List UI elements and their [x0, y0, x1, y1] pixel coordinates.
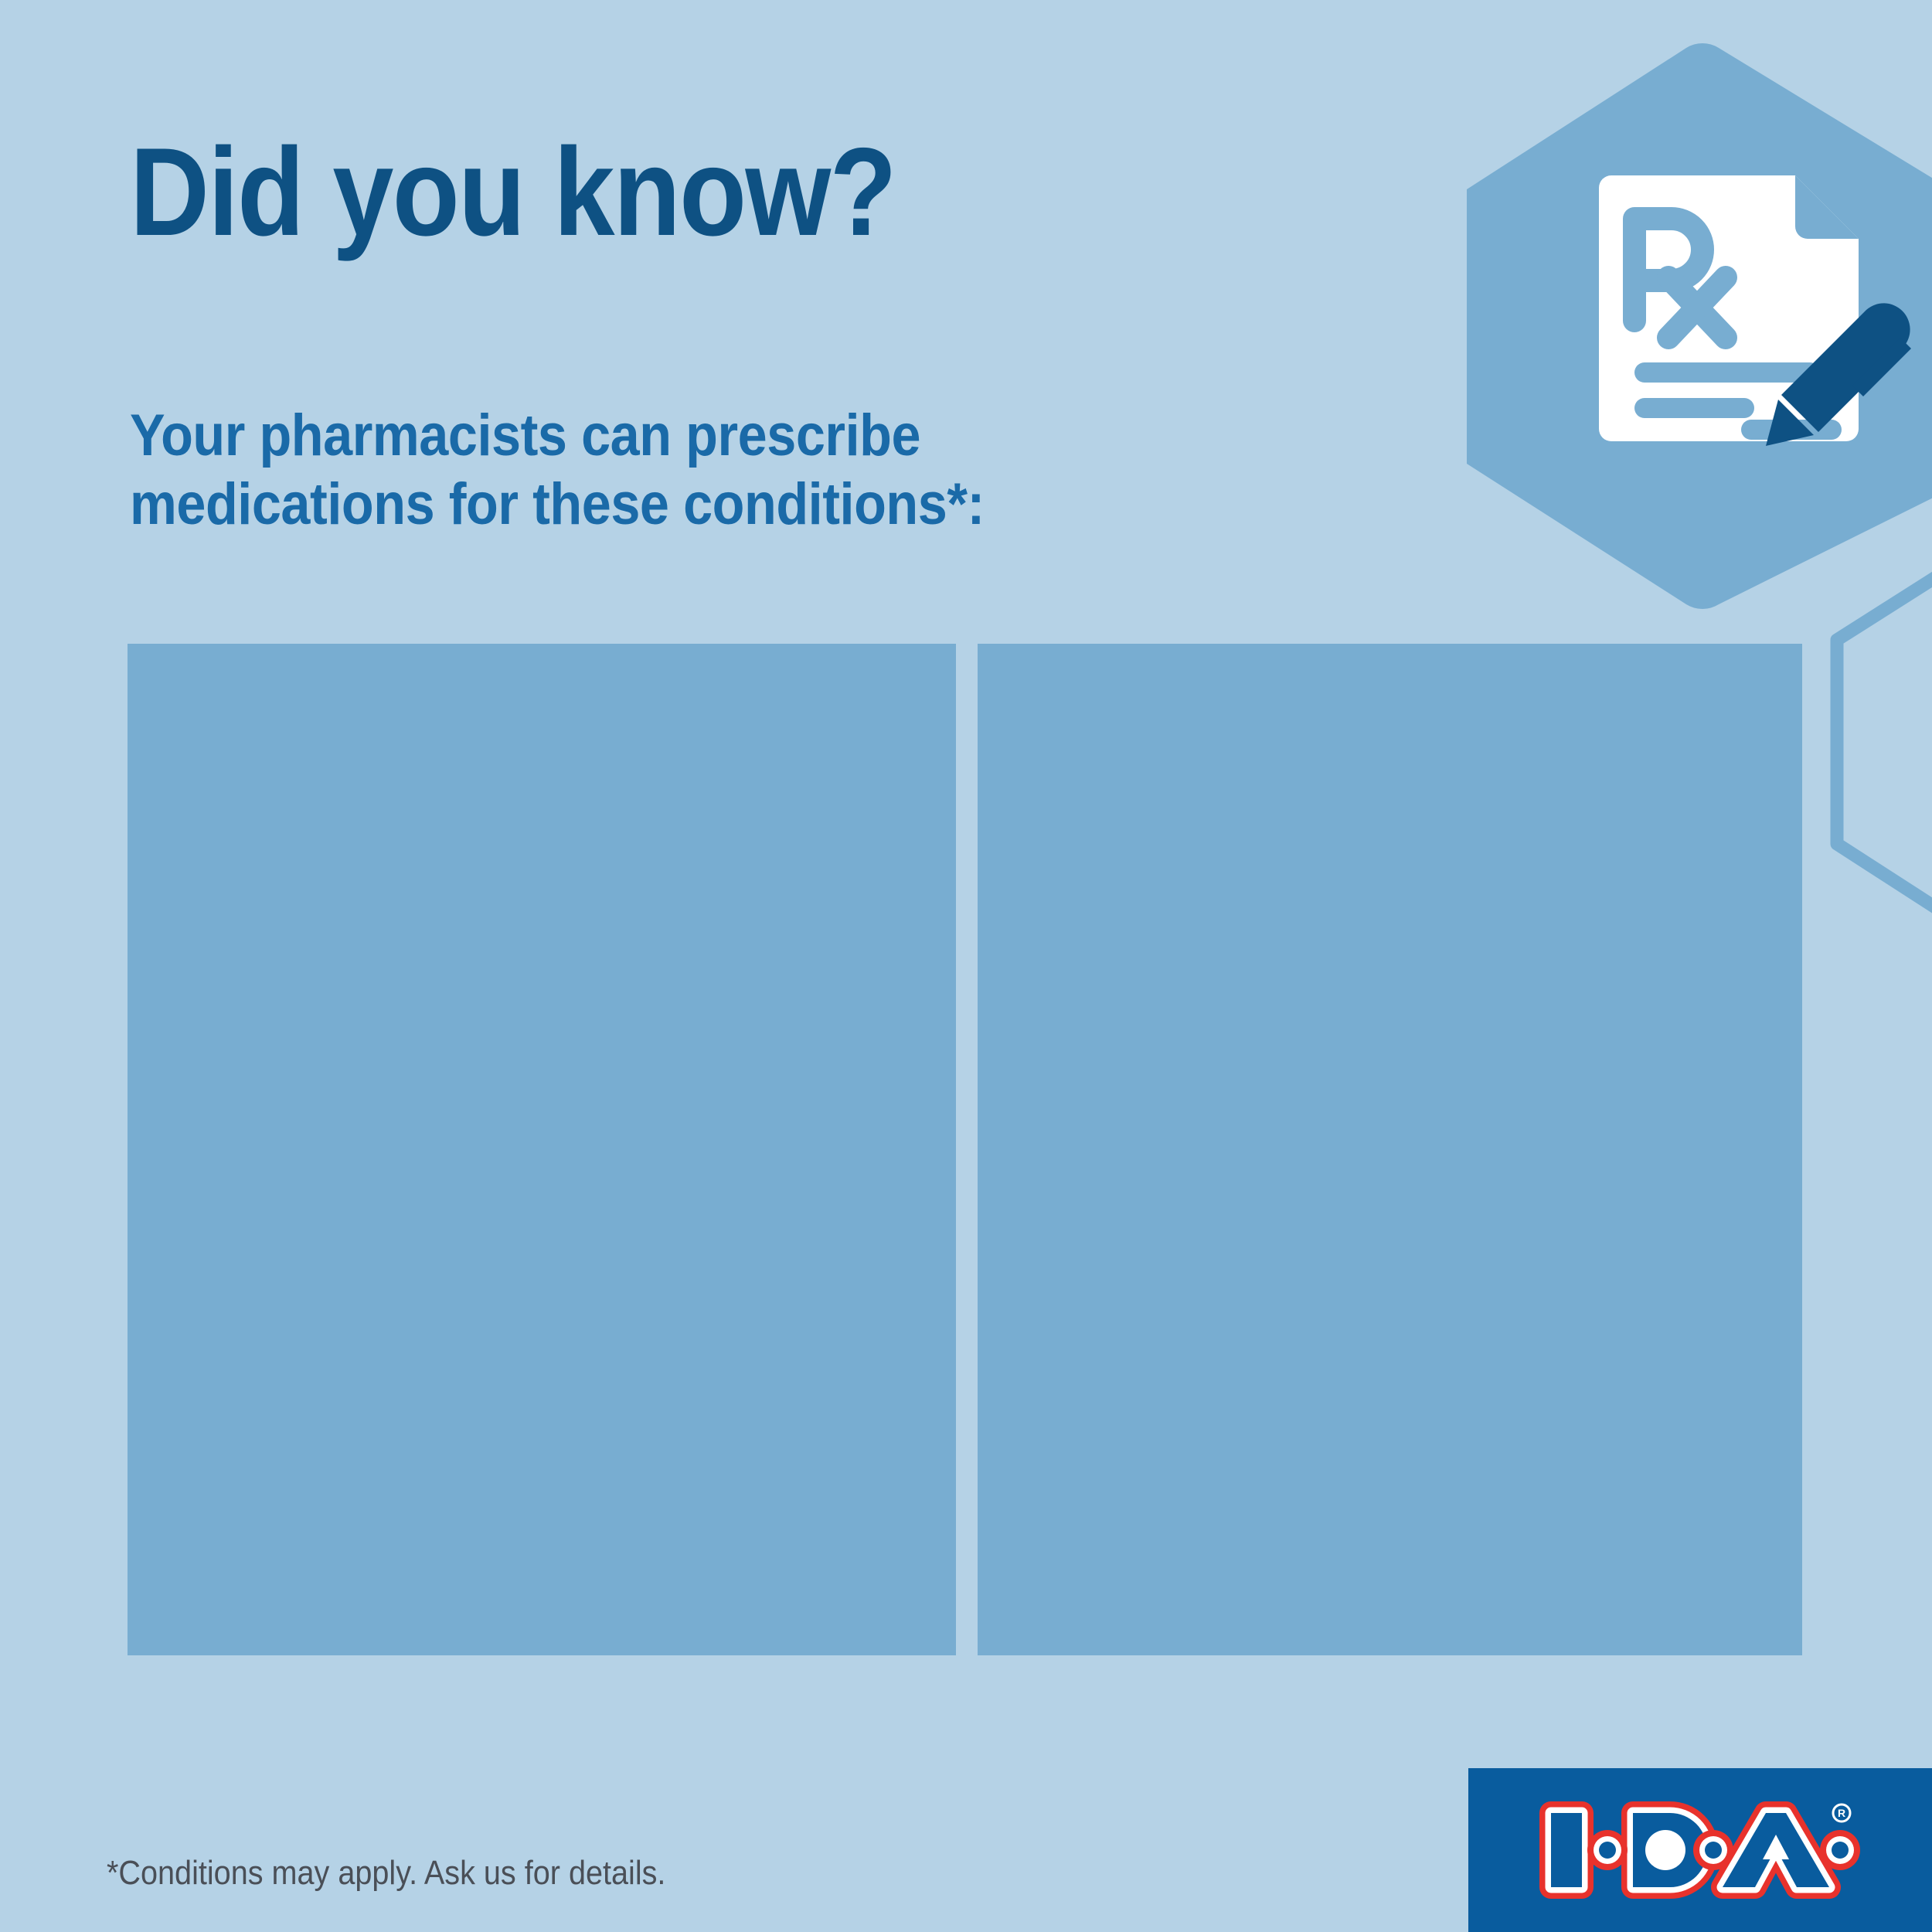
logo-dot-2: [1693, 1830, 1733, 1870]
document-text-lines: [1634, 362, 1820, 418]
document-sheet: [1599, 175, 1859, 441]
page-title: Did you know?: [130, 130, 896, 255]
logo-dot-1: [1587, 1830, 1628, 1870]
svg-text:R: R: [1838, 1807, 1845, 1819]
pen-icon: [1766, 303, 1912, 446]
conditions-panel-group: [128, 644, 1802, 1655]
conditions-panel-left: [128, 644, 956, 1655]
rx-symbol: [1634, 219, 1726, 338]
subtitle-line-2: medications for these conditions*:: [130, 471, 1173, 539]
signature-line: [1741, 420, 1842, 440]
ida-logo: R: [1468, 1768, 1932, 1932]
letter-d-counter: [1645, 1830, 1685, 1870]
folded-corner: [1795, 175, 1859, 239]
subtitle-line-1: Your pharmacists can prescribe: [130, 402, 1173, 471]
hexagon-shape: [1461, 31, 1932, 618]
page-subtitle: Your pharmacists can prescribe medicatio…: [130, 402, 1173, 539]
logo-dot-3: [1820, 1830, 1860, 1870]
registered-mark: R: [1833, 1804, 1850, 1821]
conditions-panel-right: [978, 644, 1802, 1655]
footnote-disclaimer: *Conditions may apply. Ask us for detail…: [107, 1853, 665, 1894]
hexagon-outline-shape: [1820, 541, 1932, 943]
ida-logo-mark: R: [1534, 1796, 1866, 1904]
prescription-document-icon: [1588, 174, 1913, 483]
poster-canvas: Did you know? Your pharmacists can presc…: [0, 0, 1932, 1932]
